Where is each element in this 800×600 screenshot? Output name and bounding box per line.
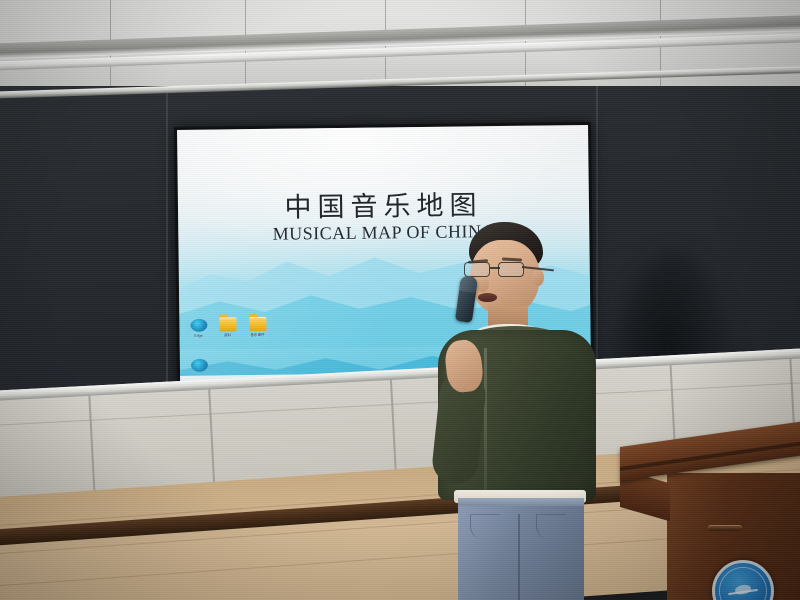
lecture-hall-scene: 中国音乐地图 MUSICAL MAP OF CHINA Edge 资料 音乐课件 [0, 0, 800, 600]
desktop-icon-corner[interactable] [184, 358, 214, 374]
folder-icon [219, 317, 236, 331]
handheld-microphone [455, 275, 478, 323]
eyeglasses-icon [464, 262, 544, 278]
desktop-icon-label: 资料 [213, 333, 243, 338]
presenter [432, 222, 602, 600]
lectern[interactable] [620, 447, 800, 600]
slide-title-chinese: 中国音乐地图 [178, 182, 589, 226]
desktop-icon[interactable]: Edge [183, 318, 213, 339]
desktop-icon-label: 音乐课件 [243, 333, 273, 338]
desktop-icon[interactable]: 音乐课件 [242, 317, 272, 338]
edge-icon [190, 318, 207, 332]
lectern-handle[interactable] [708, 525, 742, 531]
desktop-icon[interactable]: 资料 [212, 317, 242, 338]
folder-icon [249, 317, 266, 331]
desktop-icon-label: Edge [184, 334, 214, 339]
edge-icon [190, 358, 207, 372]
